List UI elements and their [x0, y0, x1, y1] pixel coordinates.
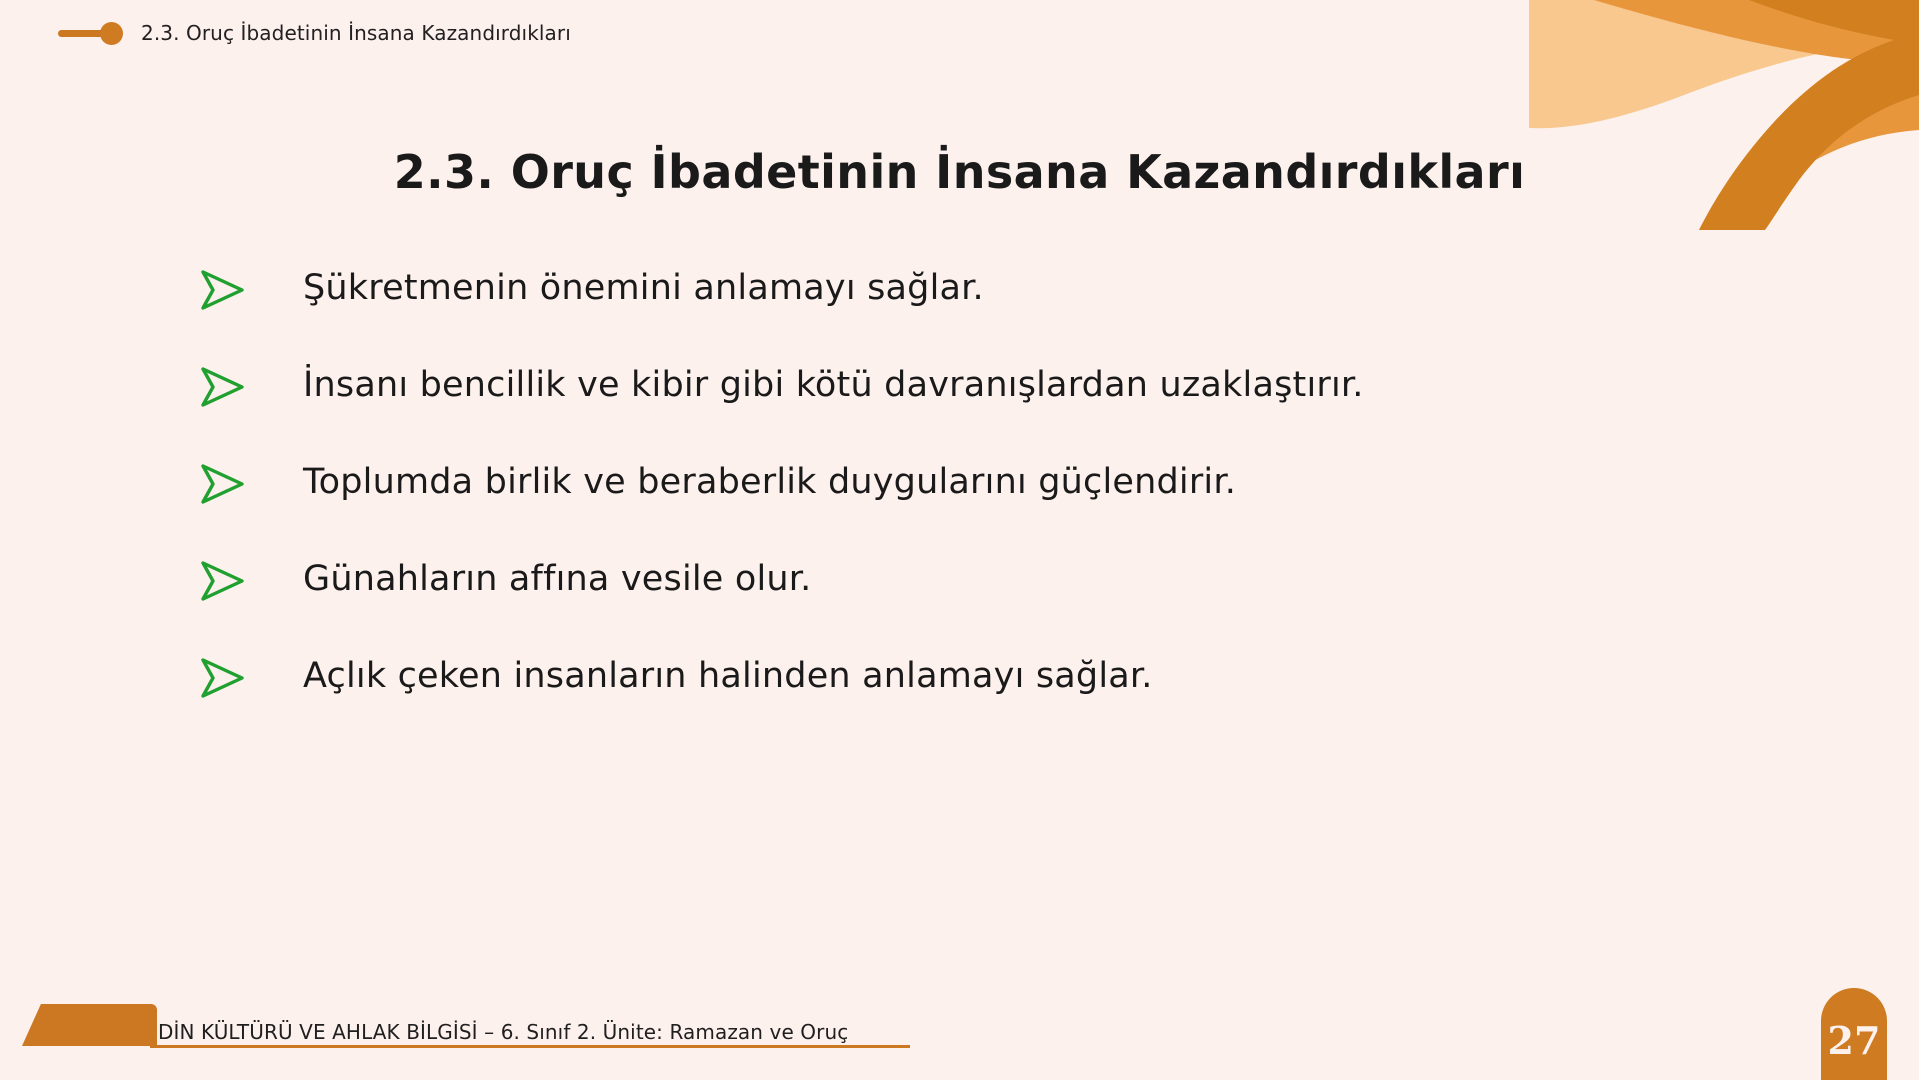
list-item-label: İnsanı bencillik ve kibir gibi kötü davr… — [303, 362, 1364, 408]
list-item: Günahların affına vesile olur. — [196, 556, 1696, 606]
list-item: İnsanı bencillik ve kibir gibi kötü davr… — [196, 362, 1696, 412]
list-item-label: Toplumda birlik ve beraberlik duyguların… — [303, 459, 1236, 505]
list-item-label: Açlık çeken insanların halinden anlamayı… — [303, 653, 1153, 699]
list-item: Açlık çeken insanların halinden anlamayı… — [196, 653, 1696, 703]
footer-parallelogram-icon — [22, 1004, 157, 1046]
footer-divider — [150, 1045, 910, 1048]
bullet-list: Şükretmenin önemini anlamayı sağlar. İns… — [196, 265, 1696, 750]
corner-band-light — [1529, 0, 1919, 128]
header-rule-icon — [58, 30, 104, 37]
arrow-right-outline-icon — [196, 558, 248, 604]
page-number-label: 27 — [1828, 1022, 1881, 1060]
list-item: Şükretmenin önemini anlamayı sağlar. — [196, 265, 1696, 315]
page-title: 2.3. Oruç İbadetinin İnsana Kazandırdıkl… — [0, 145, 1919, 199]
breadcrumb-label: 2.3. Oruç İbadetinin İnsana Kazandırdıkl… — [141, 21, 571, 45]
arrow-right-outline-icon — [196, 655, 248, 701]
arrow-right-outline-icon — [196, 461, 248, 507]
list-item: Toplumda birlik ve beraberlik duyguların… — [196, 459, 1696, 509]
breadcrumb: 2.3. Oruç İbadetinin İnsana Kazandırdıkl… — [0, 18, 571, 48]
list-item-label: Şükretmenin önemini anlamayı sağlar. — [303, 265, 984, 311]
arrow-right-outline-icon — [196, 267, 248, 313]
arrow-right-outline-icon — [196, 364, 248, 410]
header-dot-icon — [100, 22, 123, 45]
list-item-label: Günahların affına vesile olur. — [303, 556, 812, 602]
page-number-badge: 27 — [1821, 988, 1887, 1080]
slide-canvas: 2.3. Oruç İbadetinin İnsana Kazandırdıkl… — [0, 0, 1919, 1080]
footer-label: DİN KÜLTÜRÜ VE AHLAK BİLGİSİ – 6. Sınıf … — [158, 1020, 848, 1044]
